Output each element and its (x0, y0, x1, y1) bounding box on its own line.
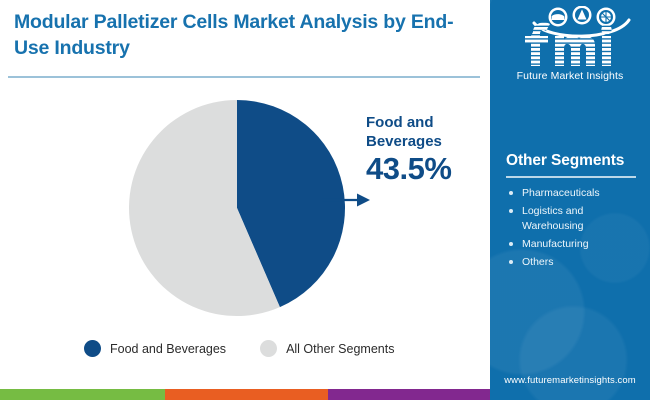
logo-tagline: Future Market Insights (490, 70, 650, 82)
list-item: Logistics and Warehousing (506, 204, 638, 234)
list-item: Pharmaceuticals (506, 186, 638, 201)
brand-logo[interactable]: Future Market Insights (490, 6, 650, 82)
legend-color-swatch-food-and-beverages (84, 340, 101, 357)
globe-icon (549, 8, 568, 27)
footer-segment-green (0, 389, 165, 400)
footer-color-bar (0, 389, 490, 400)
legend-label: All Other Segments (286, 342, 394, 356)
footer-segment-orange (165, 389, 328, 400)
other-segments-heading: Other Segments (506, 152, 638, 170)
website-url[interactable]: www.futuremarketinsights.com (490, 375, 650, 386)
title-block: Modular Palletizer Cells Market Analysis… (14, 10, 464, 61)
legend-color-swatch-all-other-segments (260, 340, 277, 357)
chart-legend: Food and Beverages All Other Segments (84, 340, 394, 357)
other-segments-block: Other Segments Pharmaceuticals Logistics… (506, 152, 638, 273)
legend-item: All Other Segments (260, 340, 394, 357)
other-segments-divider (506, 176, 636, 178)
footer-segment-purple (328, 389, 490, 400)
legend-label: Food and Beverages (110, 342, 226, 356)
legend-item: Food and Beverages (84, 340, 226, 357)
fmi-wordmark (525, 22, 612, 66)
callout-value: 43.5% (366, 153, 486, 186)
side-panel: Future Market Insights Other Segments Ph… (490, 0, 650, 400)
list-item: Others (506, 255, 638, 270)
globe-icon (597, 8, 616, 27)
fmi-logo-mark (503, 6, 637, 68)
title-divider (8, 76, 480, 78)
callout-block: Food and Beverages 43.5% (366, 114, 486, 185)
page-title: Modular Palletizer Cells Market Analysis… (14, 10, 464, 61)
callout-label: Food and Beverages (366, 114, 486, 152)
infographic-root: Modular Palletizer Cells Market Analysis… (0, 0, 650, 400)
list-item: Manufacturing (506, 237, 638, 252)
other-segments-list: Pharmaceuticals Logistics and Warehousin… (506, 186, 638, 270)
chart-icon (573, 6, 592, 25)
